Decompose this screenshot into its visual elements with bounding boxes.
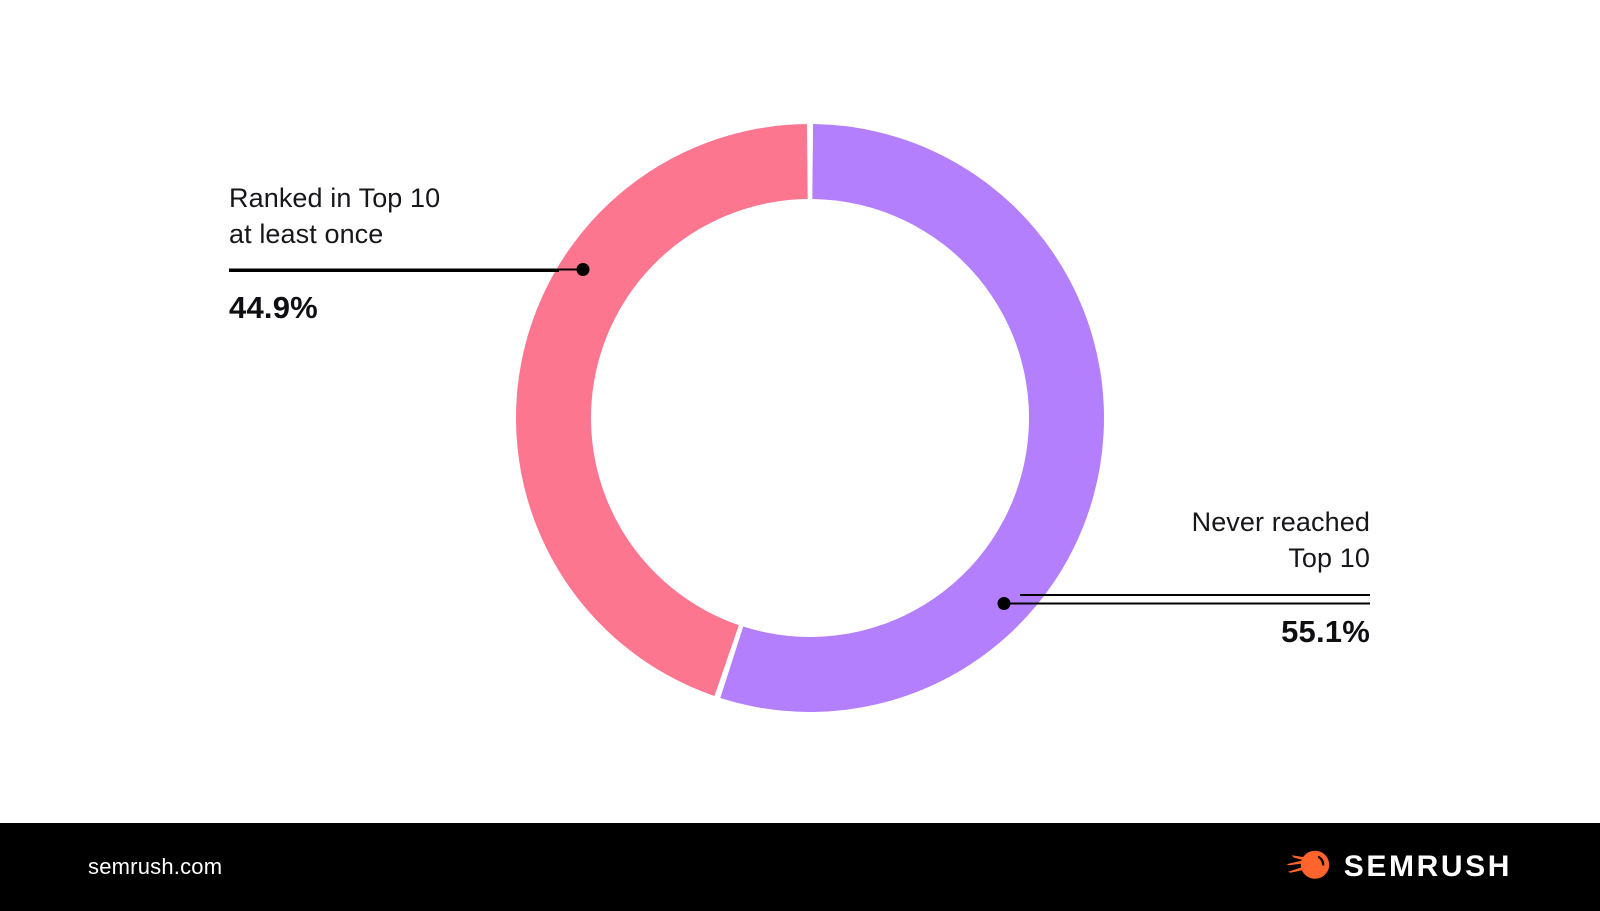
callout-right-rule — [1020, 594, 1370, 596]
callout-right-title: Never reached Top 10 — [1020, 504, 1370, 576]
donut-chart-infographic: Ranked in Top 10 at least once 44.9% Nev… — [0, 0, 1600, 911]
callout-left-title: Ranked in Top 10 at least once — [229, 180, 559, 252]
callout-left-rule — [229, 270, 559, 272]
semrush-comet-icon — [1286, 850, 1330, 885]
brand-lockup: SEMRUSH — [1286, 850, 1512, 885]
callout-left: Ranked in Top 10 at least once 44.9% — [229, 180, 559, 328]
callout-right: Never reached Top 10 55.1% — [1020, 504, 1370, 652]
donut-chart — [0, 0, 1600, 823]
donut-slice-ranked-in-top-10[interactable] — [516, 124, 808, 696]
footer-bar: semrush.com SEMRUSH — [0, 823, 1600, 911]
semrush-wordmark: SEMRUSH — [1344, 850, 1512, 884]
callout-left-value: 44.9% — [229, 288, 559, 328]
chart-area: Ranked in Top 10 at least once 44.9% Nev… — [0, 0, 1600, 823]
footer-site-url: semrush.com — [88, 854, 222, 880]
callout-left-connector-dot — [577, 263, 590, 276]
callout-right-connector-dot — [998, 597, 1011, 610]
callout-right-value: 55.1% — [1020, 612, 1370, 652]
